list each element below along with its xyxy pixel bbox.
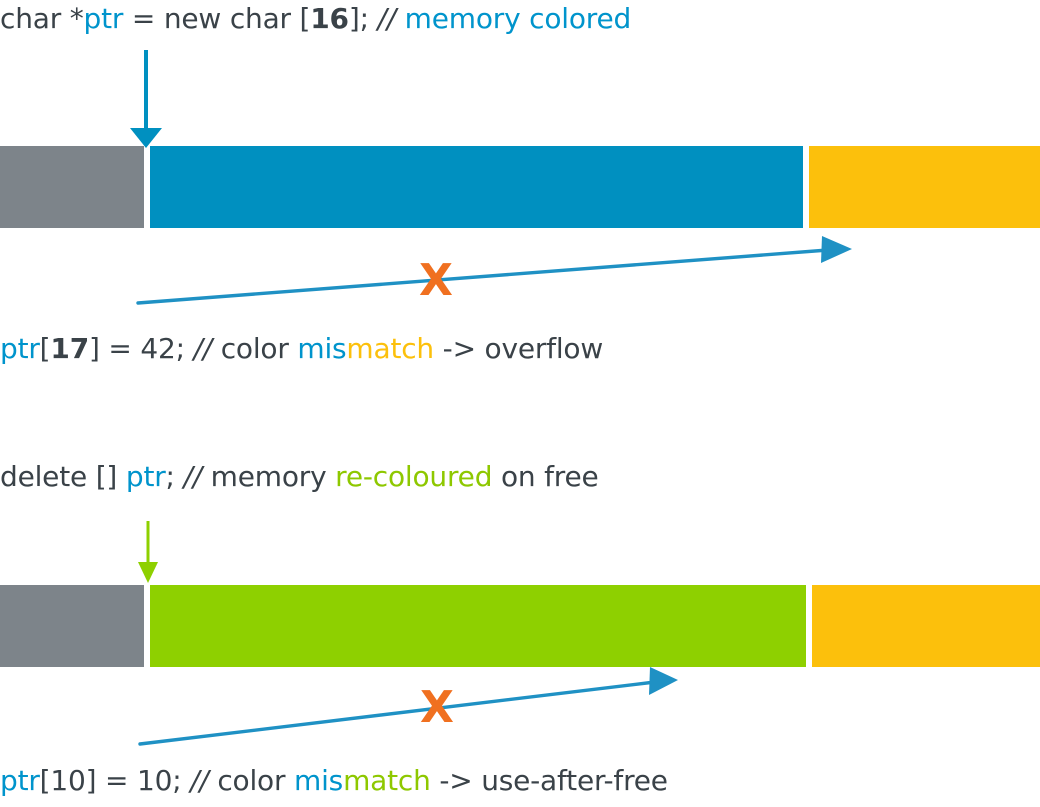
- token-size-16: 16: [310, 2, 349, 35]
- token-new-char: = new char [: [123, 2, 310, 35]
- token-comment-re-coloured: re-coloured: [335, 460, 492, 493]
- token-close-bracket-semicolon: ];: [349, 2, 378, 35]
- token-comment-overflow: -> overflow: [434, 332, 603, 365]
- code-line-overflow-write: ptr[17] = 42; // color mismatch -> overf…: [0, 332, 603, 366]
- overflow-access-arrow: [138, 236, 852, 303]
- token-index-17: 17: [50, 332, 89, 365]
- x-mark: X: [419, 255, 453, 306]
- token-index-assign-10: [10] = 10;: [40, 764, 191, 797]
- token-comment-color: color: [209, 764, 294, 797]
- token-assign-42: ] = 42;: [89, 332, 194, 365]
- token-comment-match: match: [343, 764, 431, 797]
- token-ptr-identifier: ptr: [0, 332, 40, 365]
- memory-segment-right-redzone-yellow: [809, 146, 1040, 228]
- use-after-free-access-arrow: [140, 667, 678, 744]
- token-comment-slashes: //: [183, 460, 201, 493]
- memory-segment-right-redzone-yellow: [812, 585, 1040, 667]
- pointer-arrow-blue: [130, 50, 162, 148]
- token-comment-slashes: //: [378, 2, 396, 35]
- token-comment-memory-colored: memory colored: [396, 2, 631, 35]
- token-comment-on-free: on free: [492, 460, 598, 493]
- memory-segment-allocated-object-blue: [150, 146, 803, 228]
- token-comment-mis: mis: [297, 332, 346, 365]
- memory-segment-left-redzone-gray: [0, 585, 144, 667]
- token-comment-color: color: [212, 332, 297, 365]
- token-ptr-identifier: ptr: [84, 2, 124, 35]
- memory-segment-freed-object-green: [150, 585, 806, 667]
- code-line-use-after-free: ptr[10] = 10; // color mismatch -> use-a…: [0, 764, 668, 798]
- token-delete-brackets: delete []: [0, 460, 126, 493]
- token-comment-memory: memory: [202, 460, 335, 493]
- token-comment-slashes: //: [190, 764, 208, 797]
- token-ptr-identifier: ptr: [126, 460, 166, 493]
- token-char-star: char *: [0, 2, 84, 35]
- token-comment-use-after-free: -> use-after-free: [431, 764, 668, 797]
- token-comment-slashes: //: [194, 332, 212, 365]
- memory-segment-left-redzone-gray: [0, 146, 144, 228]
- x-mark: X: [420, 682, 454, 733]
- code-line-declaration: char *ptr = new char [16]; // memory col…: [0, 2, 631, 36]
- pointer-arrow-green: [138, 521, 158, 583]
- token-comment-match: match: [346, 332, 434, 365]
- token-open-bracket: [: [40, 332, 51, 365]
- annotation-overlay: X X: [0, 0, 1040, 807]
- token-semicolon: ;: [166, 460, 184, 493]
- token-comment-mis: mis: [294, 764, 343, 797]
- diagram-canvas: char *ptr = new char [16]; // memory col…: [0, 0, 1040, 807]
- code-line-delete: delete [] ptr; // memory re-coloured on …: [0, 460, 599, 494]
- token-ptr-identifier: ptr: [0, 764, 40, 797]
